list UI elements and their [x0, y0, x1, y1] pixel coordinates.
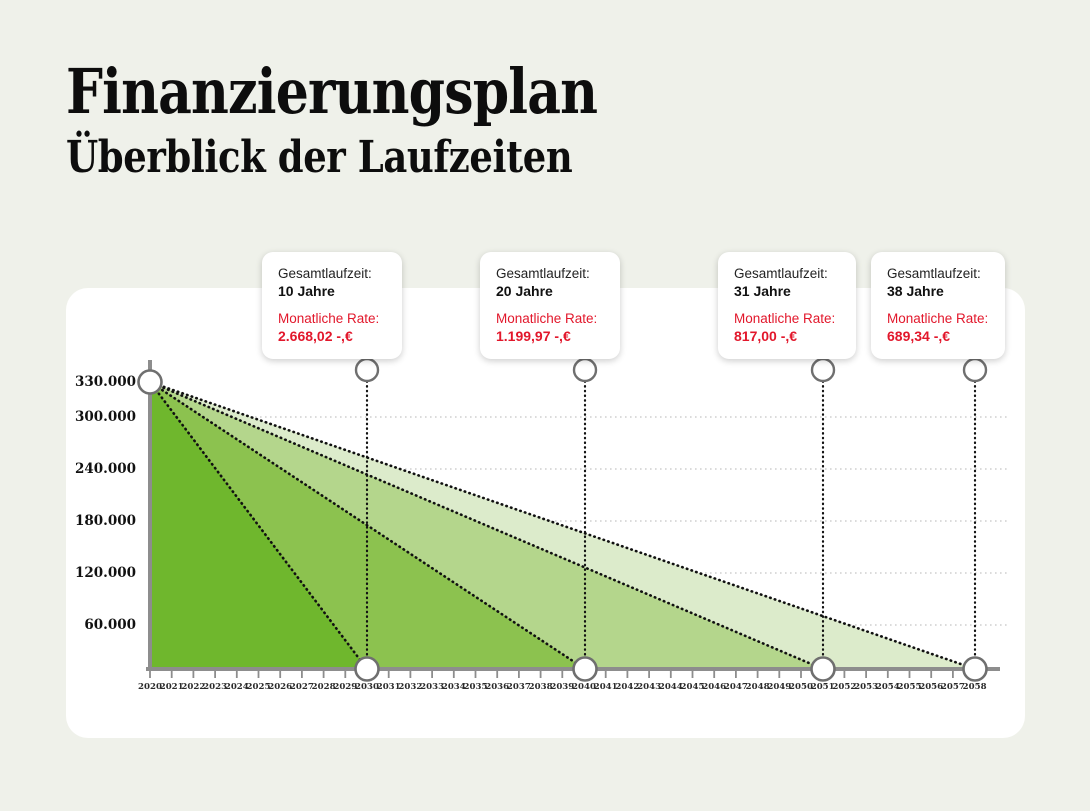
heading-block: Finanzierungsplan Überblick der Laufzeit…: [66, 58, 698, 184]
x-tick-label-2036: 2036: [485, 682, 509, 692]
endpoint-marker-20: [574, 658, 597, 681]
card-term-label: Gesamtlaufzeit:: [887, 265, 989, 282]
info-card-31-jahre[interactable]: Gesamtlaufzeit: 31 Jahre Monatliche Rate…: [718, 252, 856, 359]
x-tick-label-2056: 2056: [919, 682, 943, 692]
x-tick-label-2020: 2020: [138, 682, 162, 692]
card-term-label: Gesamtlaufzeit:: [734, 265, 840, 282]
x-tick-label-2028: 2028: [312, 682, 336, 692]
card-rate-value: 689,34 -,€: [887, 327, 989, 345]
x-tick-label-2031: 2031: [377, 682, 401, 692]
x-tick-label-2055: 2055: [898, 682, 922, 692]
card-anchor-31: [812, 359, 834, 381]
x-tick-label-2030: 2030: [355, 682, 379, 692]
x-tick-label-2040: 2040: [572, 682, 596, 692]
y-tick-label-60000: 60.000: [62, 617, 136, 633]
page-title: Finanzierungsplan: [66, 58, 597, 126]
card-term-value: 10 Jahre: [278, 282, 386, 300]
y-tick-label-180000: 180.000: [62, 513, 136, 529]
card-term-value: 20 Jahre: [496, 282, 604, 300]
x-tick-label-2051: 2051: [811, 682, 835, 692]
x-tick-label-2032: 2032: [398, 682, 422, 692]
card-term-label: Gesamtlaufzeit:: [278, 265, 386, 282]
x-tick-label-2041: 2041: [594, 682, 618, 692]
x-tick-label-2021: 2021: [160, 682, 184, 692]
x-tick-label-2025: 2025: [247, 682, 271, 692]
x-tick-label-2057: 2057: [941, 682, 965, 692]
card-rate-value: 817,00 -,€: [734, 327, 840, 345]
endpoint-marker-38: [964, 658, 987, 681]
card-rate-label: Monatliche Rate:: [278, 310, 386, 327]
info-card-38-jahre[interactable]: Gesamtlaufzeit: 38 Jahre Monatliche Rate…: [871, 252, 1005, 359]
x-tick-label-2054: 2054: [876, 682, 900, 692]
x-tick-label-2048: 2048: [746, 682, 770, 692]
endpoint-marker-10: [356, 658, 379, 681]
x-tick-label-2034: 2034: [442, 682, 466, 692]
card-term-value: 31 Jahre: [734, 282, 840, 300]
x-tick-label-2026: 2026: [268, 682, 292, 692]
x-tick-label-2023: 2023: [203, 682, 227, 692]
x-tick-label-2049: 2049: [767, 682, 791, 692]
card-anchor-10: [356, 359, 378, 381]
x-tick-label-2022: 2022: [181, 682, 205, 692]
info-card-10-jahre[interactable]: Gesamtlaufzeit: 10 Jahre Monatliche Rate…: [262, 252, 402, 359]
x-tick-label-2042: 2042: [615, 682, 639, 692]
y-tick-label-120000: 120.000: [62, 565, 136, 581]
y-tick-label-330000: 330.000: [62, 374, 136, 390]
page-subtitle: Überblick der Laufzeiten: [66, 132, 597, 184]
card-anchor-markers[interactable]: [356, 359, 986, 381]
card-anchor-38: [964, 359, 986, 381]
y-tick-label-240000: 240.000: [62, 461, 136, 477]
x-tick-label-2044: 2044: [659, 682, 683, 692]
card-rate-label: Monatliche Rate:: [496, 310, 604, 327]
endpoint-marker-31: [812, 658, 835, 681]
y-tick-label-300000: 300.000: [62, 409, 136, 425]
x-tick-label-2039: 2039: [550, 682, 574, 692]
x-tick-label-2037: 2037: [507, 682, 531, 692]
x-tick-label-2027: 2027: [290, 682, 314, 692]
x-tick-label-2053: 2053: [854, 682, 878, 692]
x-tick-label-2029: 2029: [333, 682, 357, 692]
x-tick-label-2045: 2045: [681, 682, 705, 692]
card-anchor-20: [574, 359, 596, 381]
x-tick-label-2050: 2050: [789, 682, 813, 692]
x-tick-label-2047: 2047: [724, 682, 748, 692]
card-rate-value: 1.199,97 -,€: [496, 327, 604, 345]
x-tick-label-2035: 2035: [464, 682, 488, 692]
x-tick-label-2058: 2058: [963, 682, 987, 692]
card-rate-label: Monatliche Rate:: [887, 310, 989, 327]
x-tick-label-2052: 2052: [832, 682, 856, 692]
infographic-root: Finanzierungsplan Überblick der Laufzeit…: [0, 0, 1090, 811]
origin-marker: [139, 371, 162, 394]
x-tick-label-2043: 2043: [637, 682, 661, 692]
card-term-value: 38 Jahre: [887, 282, 989, 300]
card-rate-value: 2.668,02 -,€: [278, 327, 386, 345]
info-card-20-jahre[interactable]: Gesamtlaufzeit: 20 Jahre Monatliche Rate…: [480, 252, 620, 359]
x-tick-label-2038: 2038: [529, 682, 553, 692]
x-tick-label-2033: 2033: [420, 682, 444, 692]
x-tick-label-2024: 2024: [225, 682, 249, 692]
card-term-label: Gesamtlaufzeit:: [496, 265, 604, 282]
card-rate-label: Monatliche Rate:: [734, 310, 840, 327]
x-tick-label-2046: 2046: [702, 682, 726, 692]
